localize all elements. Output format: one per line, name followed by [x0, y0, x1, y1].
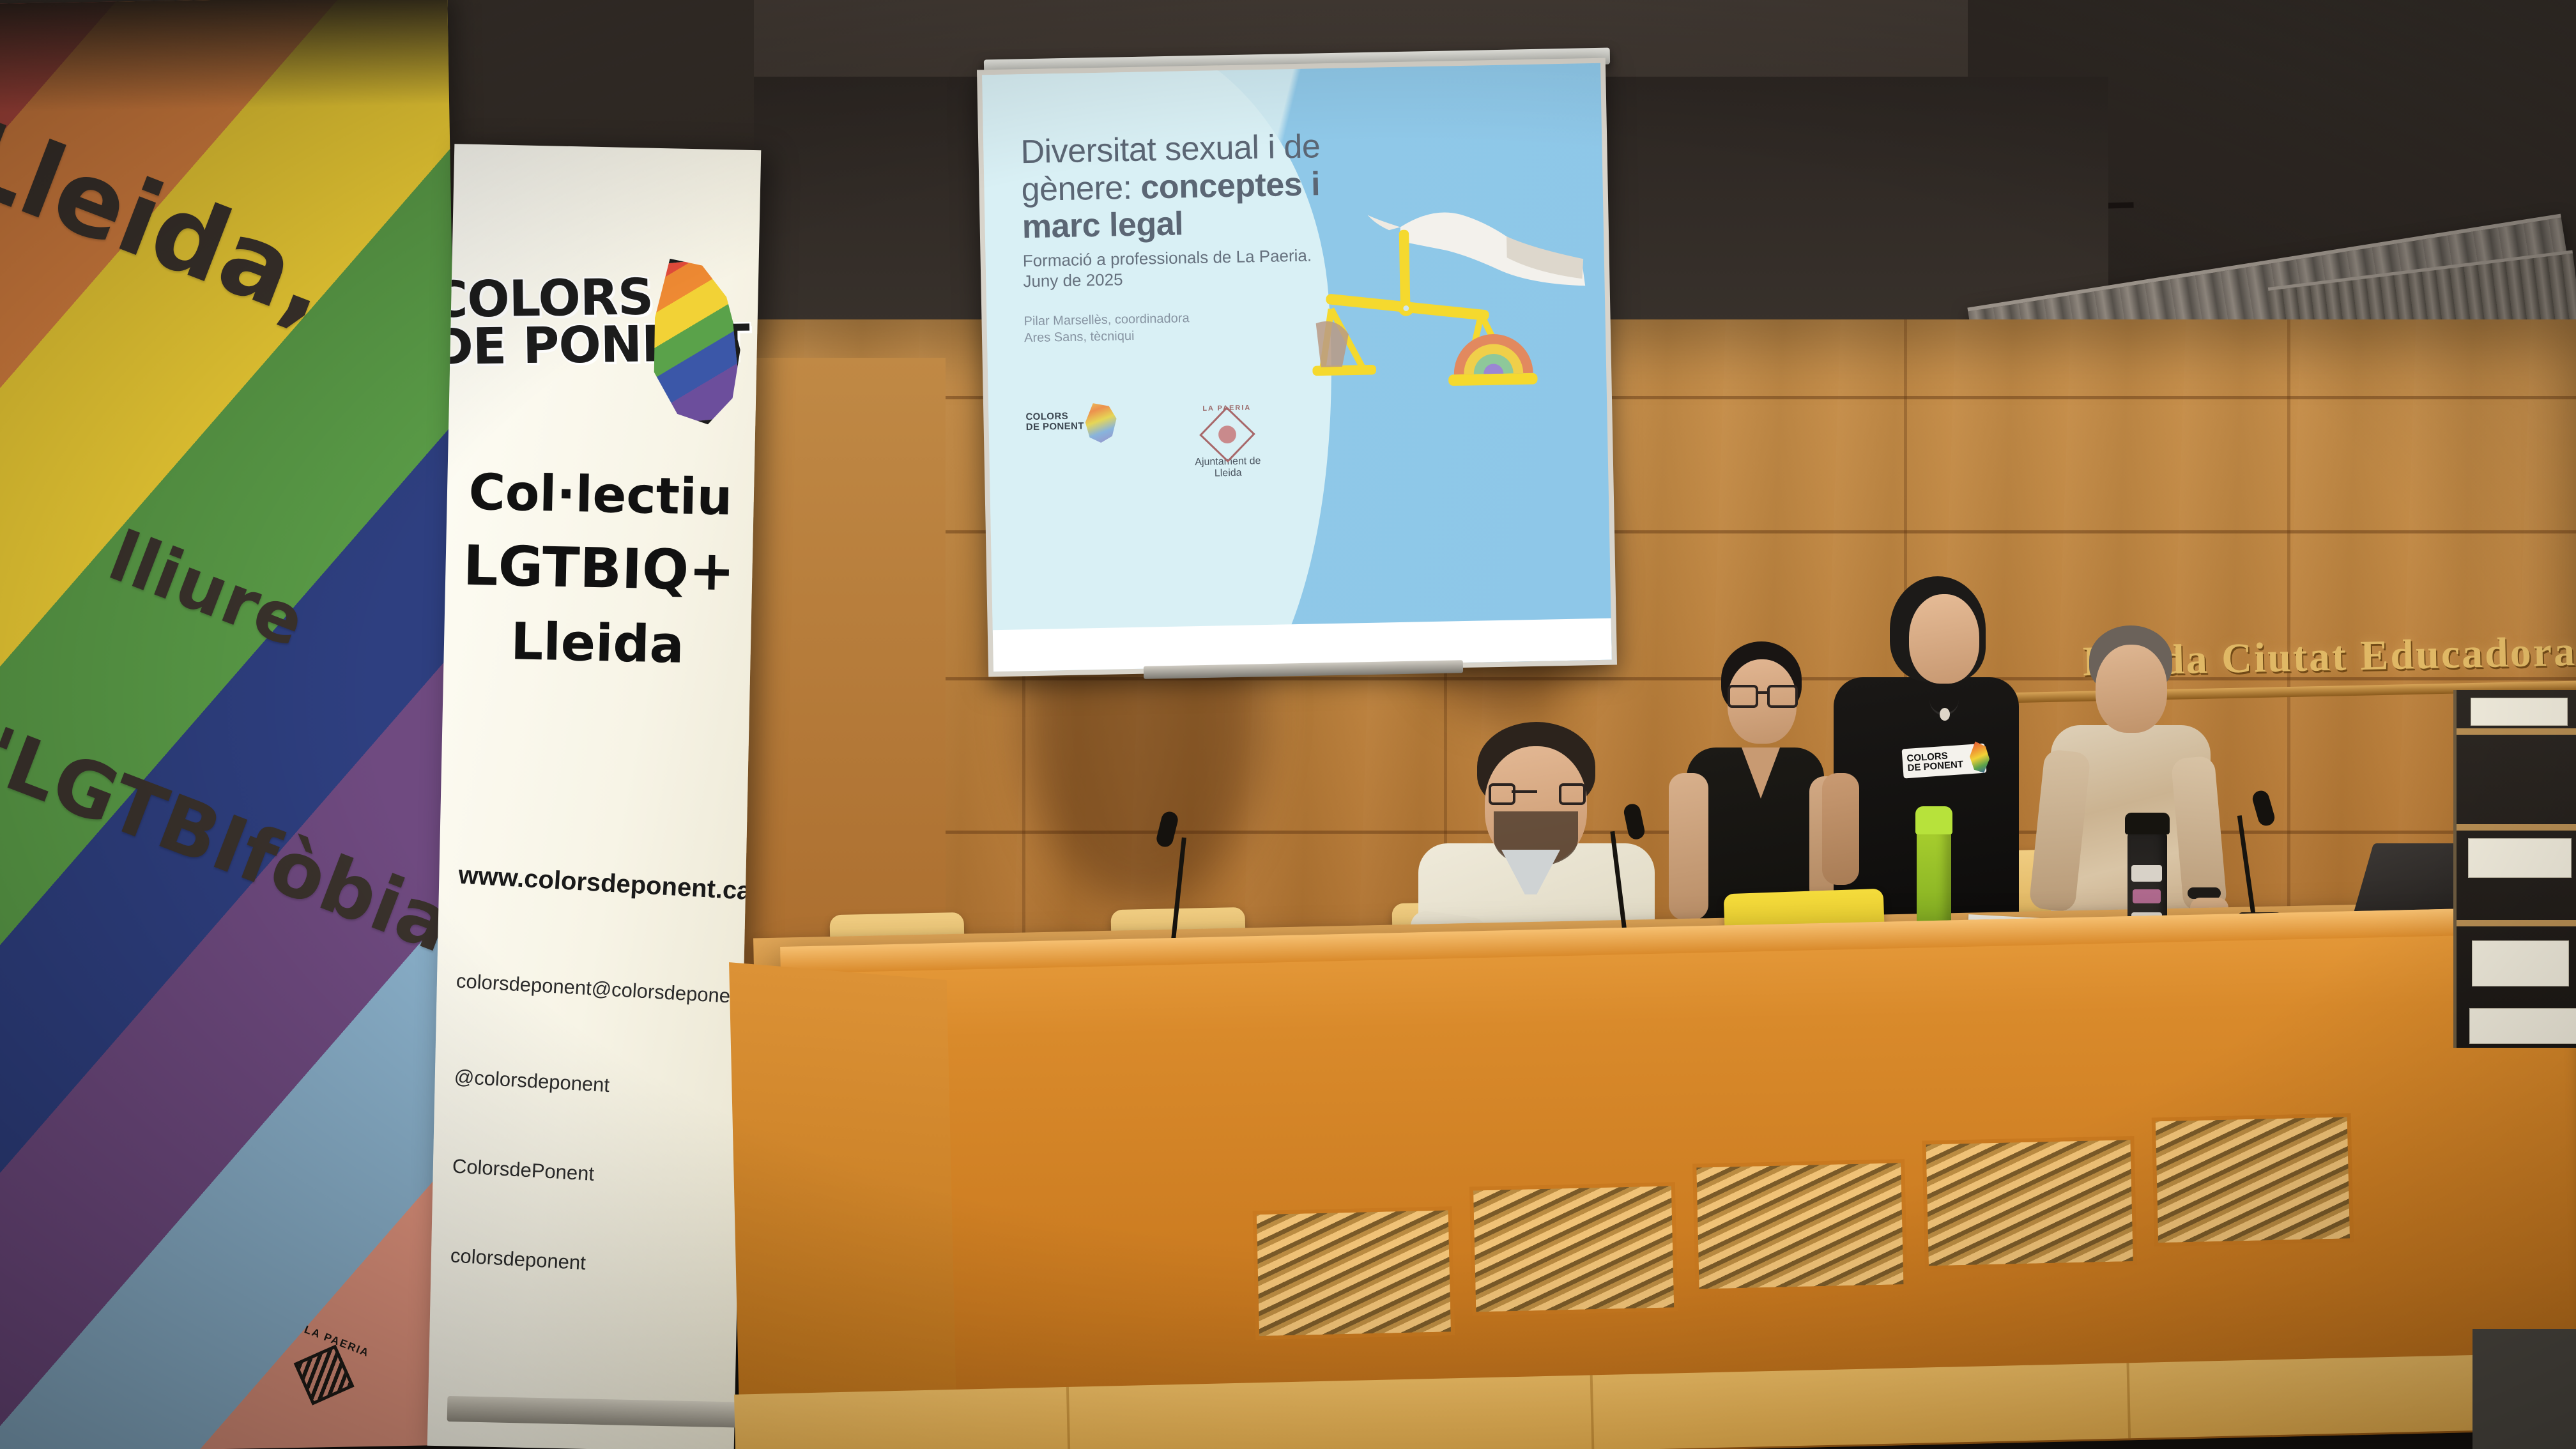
shelf-paper-2 — [2468, 838, 2572, 878]
desk-grille-5 — [2152, 1113, 2354, 1246]
black-dress-arm-left — [1669, 773, 1708, 920]
slide-subtitle: Formació a professionals de La Paeria. J… — [1022, 243, 1419, 292]
projection-screen: Diversitat sexual i de gènere: conceptes… — [977, 58, 1617, 677]
rainbow-fist-icon — [1083, 402, 1117, 443]
desk-grille-4 — [1922, 1136, 2136, 1269]
floor-side-strip — [2472, 1329, 2576, 1449]
cdp-tshirt-logo: COLORS DE PONENT — [1902, 744, 1987, 779]
desk-grille-2 — [1469, 1182, 1678, 1315]
colors-de-ponent-rollup-banner: COLORS DE PONENT Col·lectiu LGTBIQ+ Llei… — [427, 144, 762, 1449]
slide-title-line3-bold: marc legal — [1022, 205, 1183, 245]
banner-website: www.colorsdeponent.cat — [457, 861, 753, 907]
banner-social-handle-2: ColorsdePonent — [452, 1154, 746, 1194]
paeria-diamond-icon — [1199, 406, 1255, 463]
slide-title-line2-plain: gènere: — [1021, 169, 1141, 208]
desk-grille-3 — [1692, 1159, 1907, 1292]
banner-social-handle-1: @colorsdeponent — [454, 1066, 748, 1105]
black-dress-glasses — [1728, 685, 1798, 703]
slide-title-line2-bold: conceptes i — [1140, 165, 1321, 206]
shelf-paper-1 — [2471, 698, 2568, 726]
slide-authors: Pilar Marsellès, coordinadora Ares Sans,… — [1023, 306, 1395, 346]
pride-flag-banner: Lleida, lliure d'LGTBIfòbia LA PAERIA — [0, 0, 473, 1449]
banner-email: colorsdeponent@colorsdeponent.cat — [456, 970, 750, 1009]
shelf-paper-3 — [2472, 940, 2569, 986]
slide-surface: Diversitat sexual i de gènere: conceptes… — [982, 63, 1612, 671]
colors-de-ponent-logo-slide: COLORS DE PONENT — [1025, 406, 1122, 448]
green-bottle-cap — [1915, 806, 1952, 834]
seated-speaker-glasses — [1486, 783, 1588, 802]
banner-text-lleida: Lleida — [443, 610, 751, 676]
cdp-tshirt-head — [1909, 594, 1979, 684]
cdp-tshirt-arm-left — [1822, 773, 1859, 885]
banner-text-collectiu: Col·lectiu — [447, 463, 755, 527]
sticker-bottle-cap — [2125, 813, 2170, 834]
shelf-paper-4 — [2469, 1008, 2576, 1044]
slide-logo-row: COLORS DE PONENT LA PAERIA Ajuntament de… — [1025, 400, 1460, 483]
floral-top-head — [2096, 645, 2167, 733]
desk-left-wing — [729, 962, 958, 1449]
banner-top-shadow — [0, 0, 449, 113]
slide-title: Diversitat sexual i de gènere: conceptes… — [1020, 126, 1430, 245]
banner-text-lgtbiq: LGTBIQ+ — [445, 533, 753, 604]
cdp-logo-line2: DE PONENT — [1026, 421, 1084, 432]
cdp-tshirt-pendant — [1940, 708, 1950, 721]
cdp-banner-logo: COLORS DE PONENT — [429, 252, 761, 425]
paeria-logo-slide: LA PAERIA Ajuntament de Lleida — [1179, 404, 1276, 480]
banner-social-handle-3: colorsdeponent — [450, 1244, 744, 1284]
desk-grille-1 — [1253, 1206, 1455, 1340]
right-shelving-unit — [2453, 690, 2576, 1048]
auditorium-photo: Lleida Ciutat Educadora — [0, 0, 2576, 1449]
